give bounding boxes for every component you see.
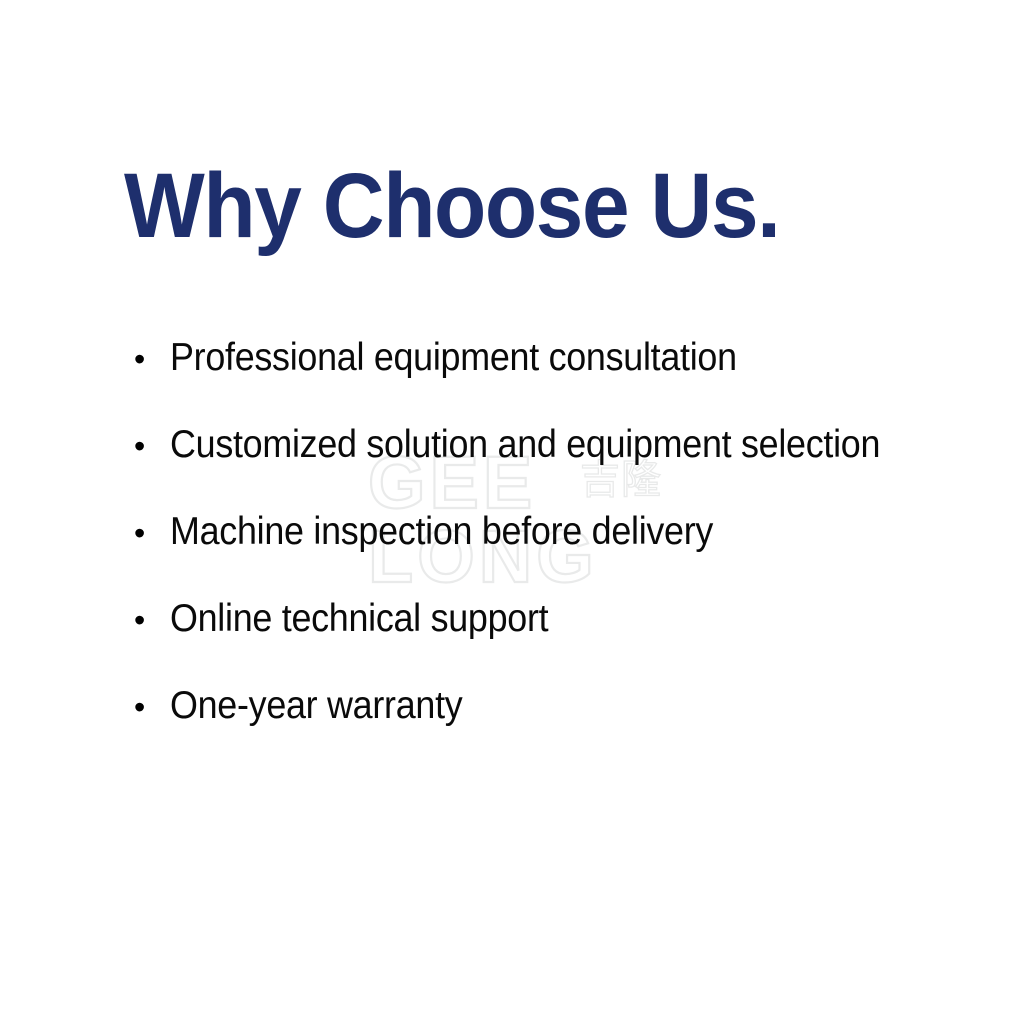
list-item-label: Professional equipment consultation — [170, 336, 737, 380]
list-item-label: Machine inspection before delivery — [170, 510, 713, 554]
benefits-list: • Professional equipment consultation • … — [134, 336, 942, 771]
bullet-point-icon: • — [134, 685, 170, 729]
bullet-point-icon: • — [134, 598, 170, 642]
list-item-label: Online technical support — [170, 597, 548, 641]
bullet-point-icon: • — [134, 424, 170, 468]
list-item: • Machine inspection before delivery — [134, 510, 942, 597]
list-item-label: Customized solution and equipment select… — [170, 423, 880, 467]
list-item-label: One-year warranty — [170, 684, 462, 728]
bullet-point-icon: • — [134, 337, 170, 381]
list-item: • Professional equipment consultation — [134, 336, 942, 423]
page-title: Why Choose Us. — [124, 158, 780, 254]
bullet-point-icon: • — [134, 511, 170, 555]
list-item: • Customized solution and equipment sele… — [134, 423, 942, 510]
list-item: • Online technical support — [134, 597, 942, 684]
slide-canvas: GEE LONG 吉隆 Why Choose Us. • Professiona… — [0, 0, 1020, 1020]
list-item: • One-year warranty — [134, 684, 942, 771]
